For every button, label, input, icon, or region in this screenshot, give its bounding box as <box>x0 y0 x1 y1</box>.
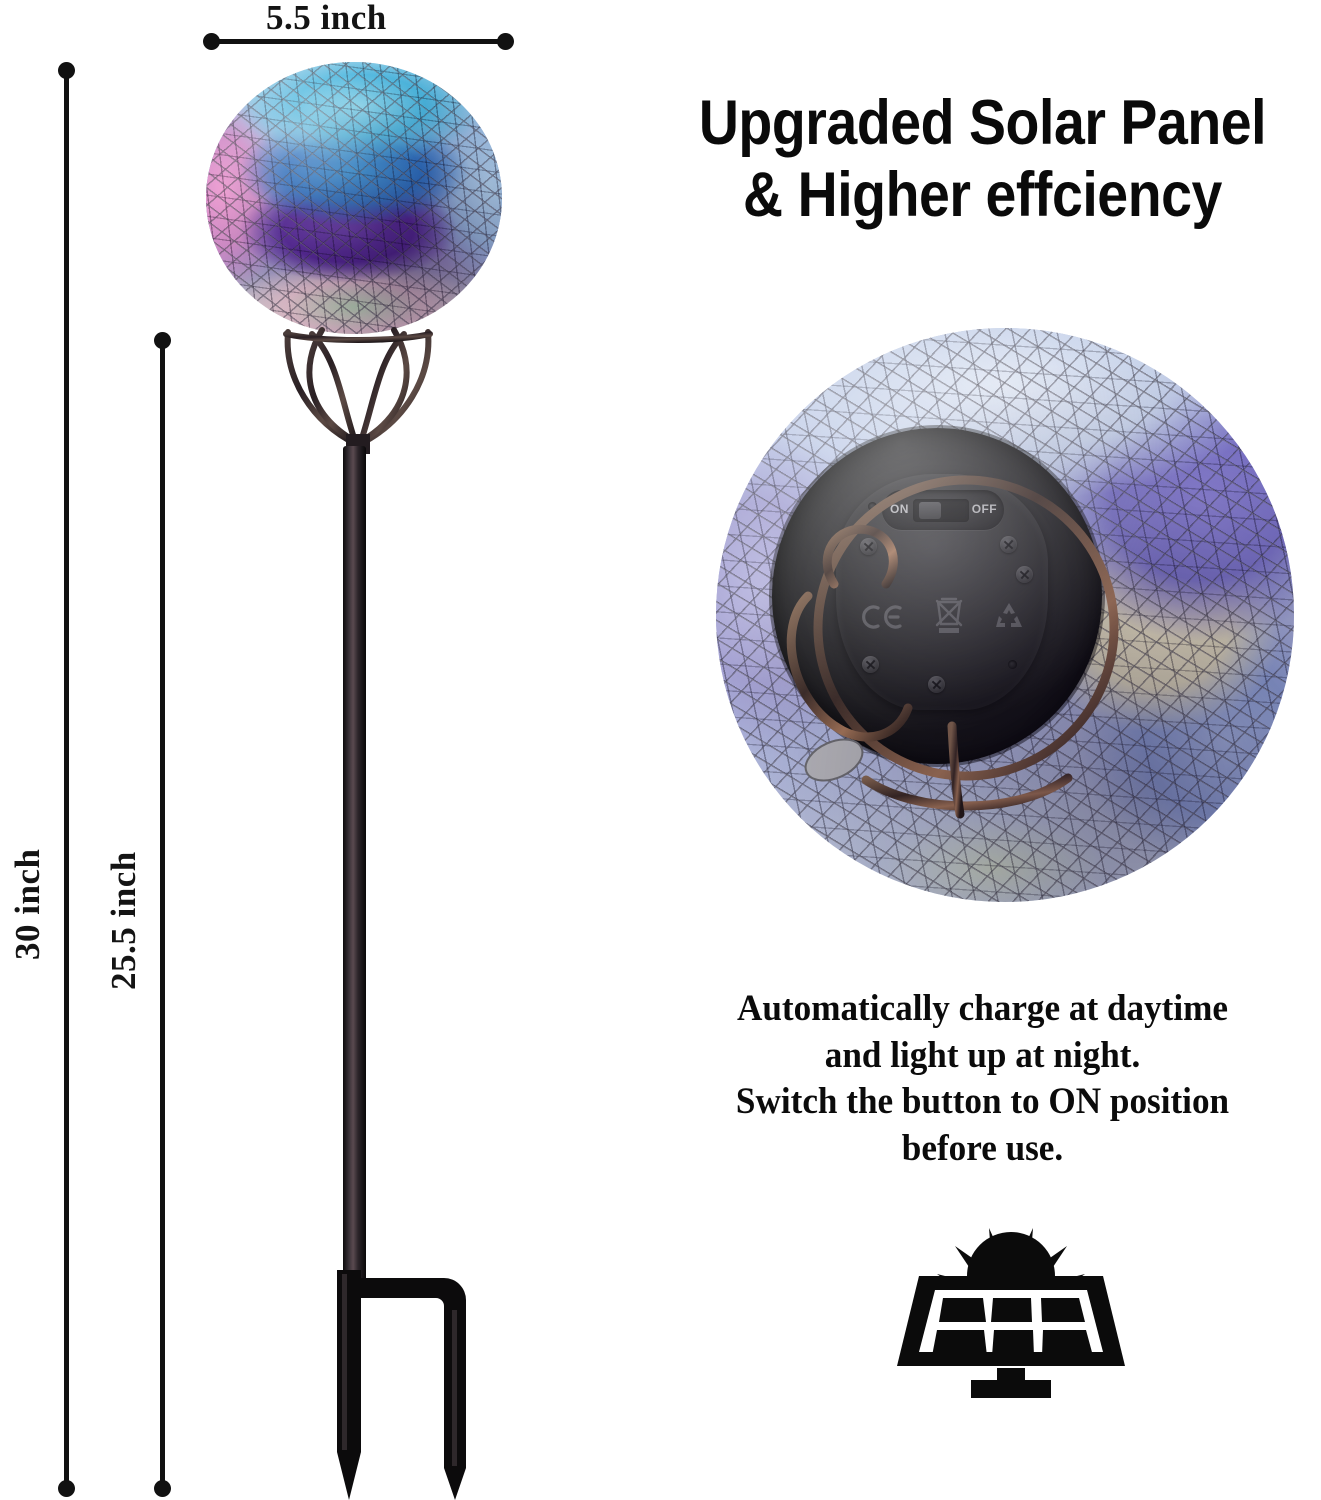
total-height-dimension-dot-top <box>58 62 75 79</box>
product-pole <box>343 446 366 1286</box>
caption-line-4: before use. <box>667 1126 1299 1173</box>
width-dimension-dot-left <box>203 33 220 50</box>
caption-line-1: Automatically charge at daytime <box>667 986 1299 1033</box>
caption-line-3: Switch the button to ON position <box>667 1079 1299 1126</box>
headline: Upgraded Solar Panel & Higher effciency <box>690 88 1275 232</box>
mosaic-globe-underside-photo: ON OFF <box>716 328 1294 902</box>
caption-line-2: and light up at night. <box>667 1033 1299 1080</box>
stake-height-dimension-dot-top <box>154 332 171 349</box>
width-dimension-line <box>212 39 504 44</box>
width-dimension-dot-right <box>497 33 514 50</box>
globe-shading <box>206 62 502 334</box>
total-height-dimension-line <box>64 70 69 1486</box>
stake-height-dimension-label: 25.5 inch <box>104 851 144 990</box>
solar-panel-sun-icon <box>893 1218 1129 1452</box>
usage-caption: Automatically charge at daytime and ligh… <box>667 986 1299 1172</box>
total-height-dimension-dot-bottom <box>58 1480 75 1497</box>
stake-height-dimension-dot-bottom <box>154 1480 171 1497</box>
mosaic-globe-main <box>206 62 502 334</box>
width-dimension-label: 5.5 inch <box>266 0 387 38</box>
total-height-dimension-label: 30 inch <box>8 849 48 960</box>
headline-line-1: Upgraded Solar Panel <box>690 88 1275 160</box>
product-infographic: 5.5 inch 30 inch 25.5 inch <box>0 0 1321 1500</box>
stake-height-dimension-line <box>160 340 165 1486</box>
metal-basket-holder <box>282 326 434 454</box>
headline-line-2: & Higher effciency <box>690 160 1275 232</box>
detail-shading <box>716 328 1294 902</box>
ground-stake <box>330 1270 520 1500</box>
